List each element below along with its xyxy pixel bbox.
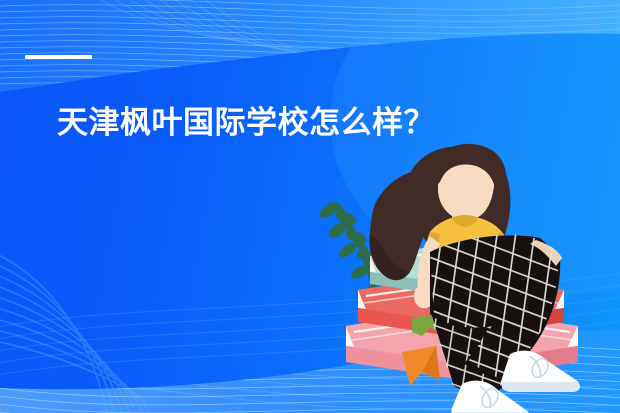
top-swoosh-band xyxy=(0,0,620,100)
left-arc-fan xyxy=(0,236,174,413)
bookmark-orange-ribbon xyxy=(402,346,440,386)
hero-illustration xyxy=(312,140,620,413)
headline-accent-rule xyxy=(25,55,92,59)
woman-on-books-illustration xyxy=(312,140,620,413)
page-title: 天津枫叶国际学校怎么样？ xyxy=(57,103,435,143)
promo-banner: 天津枫叶国际学校怎么样？ xyxy=(0,0,620,413)
